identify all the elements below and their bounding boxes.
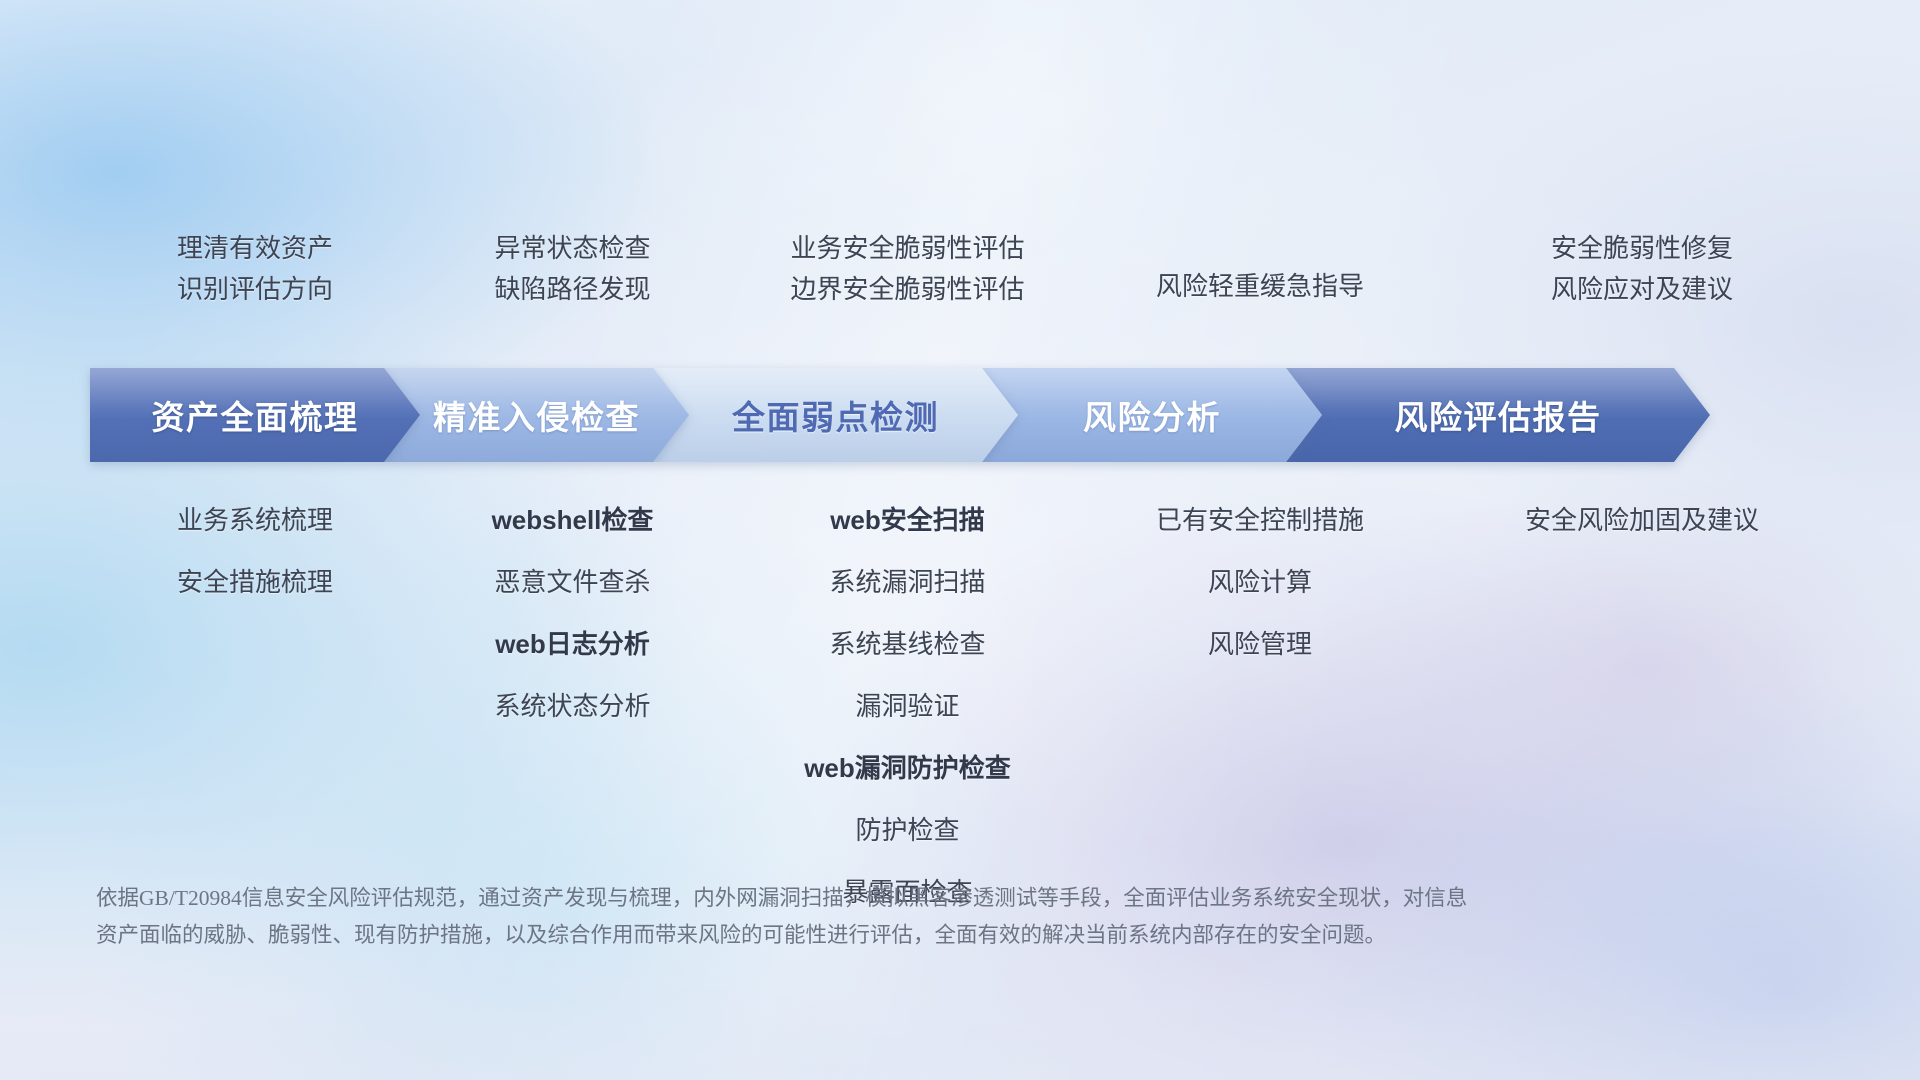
stage-detail-item: 防护检查 [725,810,1090,850]
top-caption-group-full-weakness-detection: 业务安全脆弱性评估边界安全脆弱性评估 [725,228,1090,309]
top-caption-row: 理清有效资产识别评估方向异常状态检查缺陷路径发现业务安全脆弱性评估边界安全脆弱性… [90,228,1850,309]
stage-detail-item: web安全扫描 [725,500,1090,540]
stage-detail-item: 已有安全控制措施 [1090,500,1430,540]
stage-detail-group-risk-analysis: 已有安全控制措施风险计算风险管理 [1090,500,1430,686]
process-step-risk-analysis[interactable]: 风险分析 [982,368,1322,462]
footer-description: 依据GB/T20984信息安全风险评估规范，通过资产发现与梳理，内外网漏洞扫描，… [96,880,1616,954]
process-step-label: 全面弱点检测 [732,391,939,439]
top-caption-line: 安全脆弱性修复 [1430,228,1854,269]
stage-detail-group-full-weakness-detection: web安全扫描系统漏洞扫描系统基线检查漏洞验证web漏洞防护检查防护检查暴露面检… [725,500,1090,934]
top-caption-line: 业务安全脆弱性评估 [725,228,1090,269]
top-caption-line: 异常状态检查 [420,228,725,269]
stage-detail-item: 风险管理 [1090,624,1430,664]
stage-detail-item: 安全措施梳理 [90,562,420,602]
process-arrow-bar: 资产全面梳理精准入侵检查全面弱点检测风险分析风险评估报告 [90,368,1854,462]
top-caption-group-risk-analysis: 风险轻重缓急指导 [1090,228,1430,307]
process-step-asset-inventory[interactable]: 资产全面梳理 [90,368,420,462]
process-step-label: 精准入侵检查 [433,391,640,439]
process-step-risk-assessment-report[interactable]: 风险评估报告 [1286,368,1710,462]
stage-detail-item: webshell检查 [420,500,725,540]
stage-detail-item: 恶意文件查杀 [420,562,725,602]
stage-detail-group-asset-inventory: 业务系统梳理安全措施梳理 [90,500,420,624]
stage-detail-item: 漏洞验证 [725,686,1090,726]
process-step-precise-intrusion-check[interactable]: 精准入侵检查 [384,368,689,462]
top-caption-group-precise-intrusion-check: 异常状态检查缺陷路径发现 [420,228,725,309]
stage-detail-item: 业务系统梳理 [90,500,420,540]
top-caption-line: 理清有效资产 [90,228,420,269]
stage-detail-item: web漏洞防护检查 [725,748,1090,788]
diagram-content: 理清有效资产识别评估方向异常状态检查缺陷路径发现业务安全脆弱性评估边界安全脆弱性… [0,0,1920,1080]
stage-detail-group-precise-intrusion-check: webshell检查恶意文件查杀web日志分析系统状态分析 [420,500,725,748]
top-caption-group-asset-inventory: 理清有效资产识别评估方向 [90,228,420,309]
process-step-label: 风险评估报告 [1395,391,1602,439]
process-step-label: 风险分析 [1083,391,1221,439]
stage-detail-item: 系统基线检查 [725,624,1090,664]
top-caption-line: 边界安全脆弱性评估 [725,269,1090,310]
stage-detail-row: 业务系统梳理安全措施梳理webshell检查恶意文件查杀web日志分析系统状态分… [90,500,1850,934]
stage-detail-item: web日志分析 [420,624,725,664]
top-caption-line: 缺陷路径发现 [420,269,725,310]
process-step-label: 资产全面梳理 [152,391,359,439]
process-step-full-weakness-detection[interactable]: 全面弱点检测 [653,368,1018,462]
slide-canvas: 理清有效资产识别评估方向异常状态检查缺陷路径发现业务安全脆弱性评估边界安全脆弱性… [0,0,1920,1080]
stage-detail-item: 系统状态分析 [420,686,725,726]
footer-line: 依据GB/T20984信息安全风险评估规范，通过资产发现与梳理，内外网漏洞扫描，… [96,880,1616,917]
stage-detail-item: 系统漏洞扫描 [725,562,1090,602]
stage-detail-group-risk-assessment-report: 安全风险加固及建议 [1430,500,1854,562]
stage-detail-item: 安全风险加固及建议 [1430,500,1854,540]
top-caption-line: 识别评估方向 [90,269,420,310]
top-caption-line: 风险应对及建议 [1430,269,1854,310]
top-caption-group-risk-assessment-report: 安全脆弱性修复风险应对及建议 [1430,228,1854,309]
stage-detail-item: 风险计算 [1090,562,1430,602]
footer-line: 资产面临的威胁、脆弱性、现有防护措施，以及综合作用而带来风险的可能性进行评估，全… [96,917,1616,954]
top-caption-line: 风险轻重缓急指导 [1090,266,1430,307]
